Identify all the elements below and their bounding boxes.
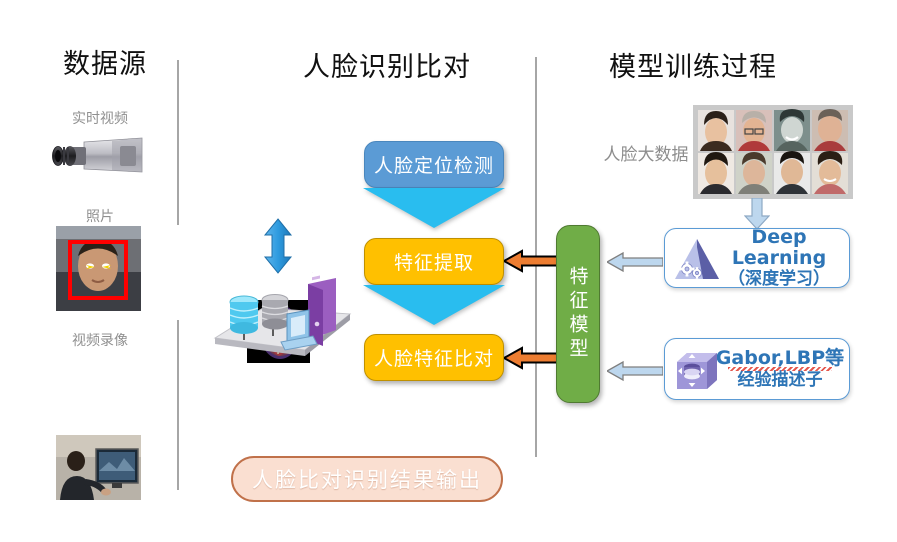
flow-arrow-detection-to-extraction	[363, 188, 505, 228]
output-result-pill[interactable]: 人脸比对识别结果输出	[231, 456, 503, 502]
pipeline-step-face-detection[interactable]: 人脸定位检测	[364, 141, 504, 188]
column-title-model-training: 模型训练过程	[609, 45, 777, 84]
training-arrow-descriptors	[607, 360, 663, 382]
column-title-data-source: 数据源	[63, 42, 147, 81]
bidirectional-link-arrow	[262, 218, 294, 274]
data-cube-icon	[674, 350, 720, 397]
security-camera-image	[50, 128, 150, 186]
data-source-label-live-video: 实时视频	[52, 108, 148, 128]
flow-arrow-extraction-to-matching	[363, 285, 505, 325]
training-arrow-deep-learning	[607, 251, 663, 273]
triangle-gears-icon	[673, 237, 721, 286]
dataset-down-arrow	[744, 198, 770, 230]
column-title-face-recognition: 人脸识别比对	[303, 45, 471, 84]
feature-model-box[interactable]: 特征模型	[556, 225, 600, 403]
portrait-photo-with-face-box-image	[56, 226, 141, 311]
dataset-label: 人脸大数据	[600, 140, 692, 165]
divider-left-lower	[177, 320, 179, 490]
pipeline-step-feature-extraction[interactable]: 特征提取	[364, 238, 504, 285]
spellcheck-squiggle	[728, 367, 832, 371]
data-source-label-video-recording: 视频录像	[52, 330, 148, 350]
data-source-label-photo: 照片	[52, 206, 148, 226]
video-surveillance-operator-image	[56, 435, 141, 500]
diagram-canvas: 数据源 人脸识别比对 模型训练过程 实时视频	[0, 0, 897, 542]
pipeline-step-feature-matching[interactable]: 人脸特征比对	[364, 334, 504, 381]
method-card-descriptors[interactable]: Gabor,LBP等 经验描述子	[664, 338, 850, 400]
descriptors-text: Gabor,LBP等 经验描述子	[711, 348, 849, 390]
method-card-deep-learning[interactable]: Deep Learning （深度学习）	[664, 228, 850, 288]
deep-learning-text: Deep Learning （深度学习）	[709, 227, 849, 289]
database-server-illustration	[205, 272, 355, 367]
divider-left-upper	[177, 60, 179, 225]
face-photo-grid-image	[693, 105, 853, 199]
